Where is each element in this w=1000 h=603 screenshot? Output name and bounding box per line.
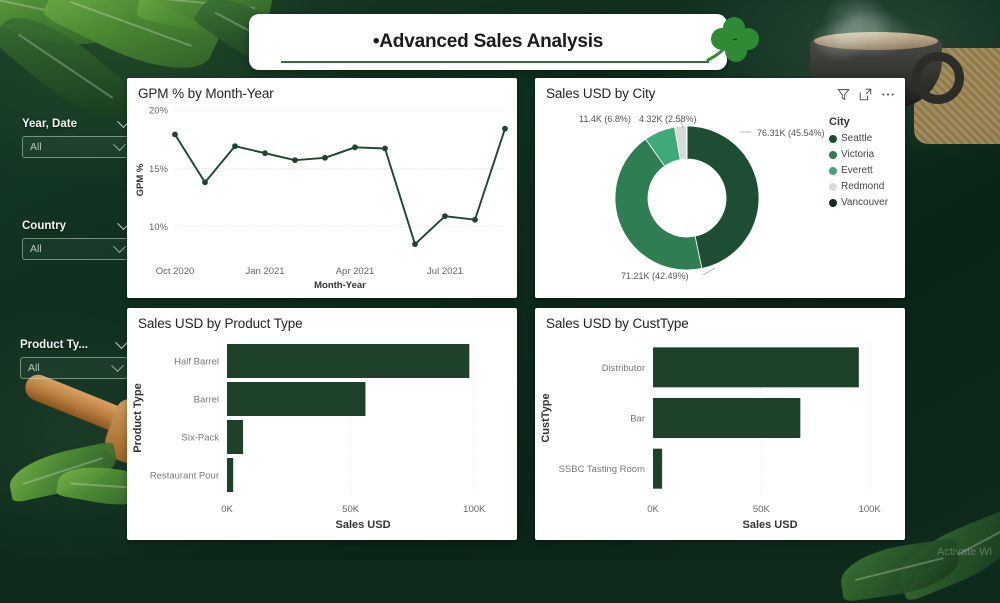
title-underline	[281, 61, 709, 63]
donut-chart[interactable]: 76.31K (45.54%)71.21K (42.49%)11.4K (6.8…	[535, 102, 835, 298]
bar-chart-product-type[interactable]: 0K50K100KHalf BarrelBarrelSix-PackRestau…	[127, 308, 517, 540]
panel-sales-by-product-type: Sales USD by Product Type 0K50K100KHalf …	[127, 308, 517, 540]
slicer-value: All	[28, 362, 40, 374]
svg-text:GPM %: GPM %	[135, 163, 146, 196]
slicer-dropdown[interactable]: All	[20, 357, 128, 379]
svg-text:Bar: Bar	[630, 414, 645, 425]
filter-icon[interactable]	[837, 88, 850, 101]
svg-text:Oct 2020: Oct 2020	[156, 266, 195, 277]
svg-text:Product Type: Product Type	[132, 383, 144, 452]
legend-label: Redmond	[841, 181, 884, 192]
legend-item-redmond[interactable]: Redmond	[829, 181, 897, 192]
slicer-label: Year, Date	[22, 118, 77, 130]
slicer-header[interactable]: Product Ty...	[20, 339, 128, 351]
svg-text:Sales USD: Sales USD	[335, 519, 390, 531]
legend-item-everett[interactable]: Everett	[829, 165, 897, 176]
chart-title: Sales USD by Product Type	[138, 316, 303, 331]
visual-header-icons	[837, 88, 895, 101]
legend-color-swatch	[829, 151, 837, 159]
legend-color-swatch	[829, 183, 837, 191]
report-title-banner: •Advanced Sales Analysis	[249, 14, 727, 70]
chart-title: Sales USD by City	[546, 86, 655, 101]
chevron-down-icon[interactable]	[111, 359, 124, 372]
page-title: •Advanced Sales Analysis	[373, 31, 603, 53]
panel-sales-by-city: Sales USD by City 76.31K (45.54%)71.21K …	[535, 78, 905, 298]
svg-text:Distributor: Distributor	[602, 363, 645, 374]
clover-icon	[700, 12, 762, 72]
svg-text:Month-Year: Month-Year	[314, 280, 366, 291]
svg-text:15%: 15%	[149, 164, 169, 175]
more-options-icon[interactable]	[881, 88, 895, 101]
legend-color-swatch	[829, 167, 837, 175]
slicer-dropdown[interactable]: All	[22, 136, 130, 158]
legend-label: Victoria	[841, 149, 874, 160]
svg-text:20%: 20%	[149, 106, 169, 117]
bar-chart-custtype[interactable]: 0K50K100KDistributorBarSSBC Tasting Room…	[535, 308, 905, 540]
chart-title: GPM % by Month-Year	[138, 86, 274, 101]
legend-label: Everett	[841, 165, 873, 176]
slicer-header[interactable]: Country	[22, 220, 130, 232]
slicer-year-date[interactable]: Year, Date All	[22, 118, 130, 158]
svg-text:100K: 100K	[859, 504, 882, 515]
chart-legend: City SeattleVictoriaEverettRedmondVancou…	[829, 116, 897, 213]
legend-item-victoria[interactable]: Victoria	[829, 149, 897, 160]
svg-text:Jul 2021: Jul 2021	[427, 266, 463, 277]
slicer-value: All	[30, 141, 42, 153]
steam-wisp	[810, 18, 870, 62]
chart-title: Sales USD by CustType	[546, 316, 689, 331]
svg-text:Sales USD: Sales USD	[742, 519, 797, 531]
svg-text:SSBC Tasting Room: SSBC Tasting Room	[559, 464, 646, 475]
svg-text:Barrel: Barrel	[194, 395, 219, 406]
slicer-country[interactable]: Country All	[22, 220, 130, 260]
svg-text:76.31K (45.54%): 76.31K (45.54%)	[757, 128, 825, 138]
slicer-label: Country	[22, 220, 66, 232]
svg-text:Restaurant Pour: Restaurant Pour	[150, 471, 219, 482]
svg-text:0K: 0K	[221, 504, 233, 515]
legend-color-swatch	[829, 135, 837, 143]
chevron-down-icon[interactable]	[113, 138, 126, 151]
svg-text:CustType: CustType	[540, 393, 552, 442]
slicer-dropdown[interactable]: All	[22, 238, 130, 260]
slicer-header[interactable]: Year, Date	[22, 118, 130, 130]
svg-text:50K: 50K	[342, 504, 360, 515]
panel-gpm-by-month-year: GPM % by Month-Year 10%15%20%Oct 2020Jan…	[127, 78, 517, 298]
slicer-product-type[interactable]: Product Ty... All	[20, 339, 128, 379]
svg-text:Apr 2021: Apr 2021	[336, 266, 375, 277]
svg-text:10%: 10%	[149, 222, 169, 233]
legend-title: City	[829, 116, 897, 128]
legend-item-seattle[interactable]: Seattle	[829, 133, 897, 144]
legend-color-swatch	[829, 199, 837, 207]
chevron-down-icon[interactable]	[113, 240, 126, 253]
slicer-label: Product Ty...	[20, 339, 88, 351]
svg-text:0K: 0K	[647, 504, 659, 515]
svg-text:71.21K (42.49%): 71.21K (42.49%)	[621, 271, 689, 281]
svg-text:Jan 2021: Jan 2021	[245, 266, 284, 277]
svg-text:Six-Pack: Six-Pack	[182, 433, 220, 444]
legend-label: Seattle	[841, 133, 872, 144]
slicer-value: All	[30, 243, 42, 255]
svg-text:4.32K (2.58%): 4.32K (2.58%)	[639, 114, 697, 124]
svg-text:Half Barrel: Half Barrel	[174, 357, 219, 368]
panel-sales-by-custtype: Sales USD by CustType 0K50K100KDistribut…	[535, 308, 905, 540]
svg-text:50K: 50K	[753, 504, 771, 515]
legend-item-vancouver[interactable]: Vancouver	[829, 197, 897, 208]
svg-text:11.4K (6.8%): 11.4K (6.8%)	[579, 114, 631, 124]
line-chart[interactable]: 10%15%20%Oct 2020Jan 2021Apr 2021Jul 202…	[127, 78, 517, 298]
windows-activation-watermark: Activate Wi	[937, 546, 992, 558]
legend-label: Vancouver	[841, 197, 888, 208]
focus-mode-icon[interactable]	[859, 88, 872, 101]
svg-text:100K: 100K	[463, 504, 486, 515]
